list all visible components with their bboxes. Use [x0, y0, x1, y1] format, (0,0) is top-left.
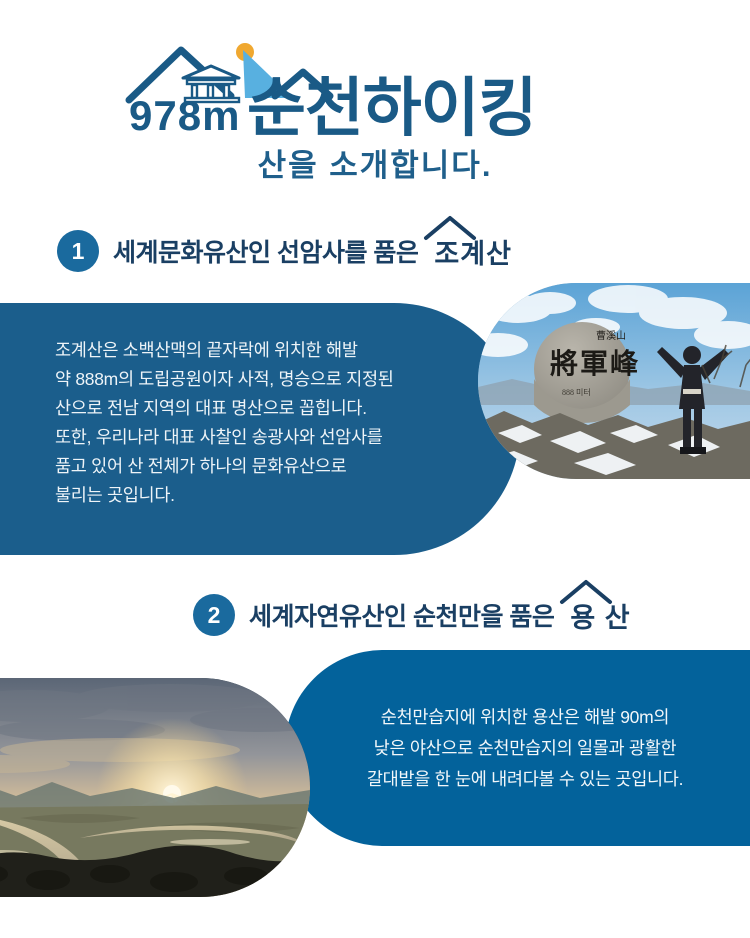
body-line: 조계산은 소백산맥의 끝자락에 위치한 해발	[55, 336, 455, 365]
jogyesan-summit-photo: 曹溪山 將軍峰 888 미터	[478, 283, 750, 479]
logo-elevation: 978m	[129, 92, 240, 138]
header: 978m 순천하이킹 산을 소개합니다.	[0, 0, 750, 205]
section-1-body: 조계산은 소백산맥의 끝자락에 위치한 해발 약 888m의 도립공원이자 사적…	[55, 336, 455, 510]
section-2-mountain-name-wrap: 용 산	[570, 596, 630, 635]
logo-artwork: 978m 순천하이킹	[125, 38, 625, 138]
section-1-photo: 曹溪山 將軍峰 888 미터	[478, 283, 750, 479]
mountain-peak-mark-icon	[560, 579, 612, 603]
section-2-photo	[0, 678, 310, 897]
body-line: 산으로 전남 지역의 대표 명산으로 꼽힙니다.	[55, 394, 455, 423]
summit-marker-stone: 曹溪山 將軍峰 888 미터	[534, 322, 640, 423]
body-line: 또한, 우리나라 대표 사찰인 송광사와 선암사를	[55, 423, 455, 452]
body-line: 낮은 야산으로 순천만습지의 일몰과 광활한	[320, 733, 730, 764]
body-line: 순천만습지에 위치한 용산은 해발 90m의	[320, 702, 730, 733]
body-line: 약 888m의 도립공원이자 사적, 명승으로 지정된	[55, 365, 455, 394]
section-1-heading-text: 세계문화유산인 선암사를 품은	[113, 233, 418, 269]
section-1-mountain-name-wrap: 조계산	[434, 232, 512, 271]
section-1-mountain-name: 조계산	[434, 239, 512, 269]
section-2-badge: 2	[193, 594, 235, 636]
section-2-body: 순천만습지에 위치한 용산은 해발 90m의 낮은 야산으로 순천만습지의 일몰…	[320, 702, 730, 795]
body-line: 품고 있어 산 전체가 하나의 문화유산으로	[55, 452, 455, 481]
logo-wordmark: 순천하이킹	[247, 72, 536, 138]
marker-text-top: 曹溪山	[596, 329, 626, 342]
section-1-badge: 1	[57, 230, 99, 272]
marker-text-main: 將軍峰	[550, 348, 640, 380]
brand-logo: 978m 순천하이킹	[125, 38, 625, 138]
section-2-heading-text: 세계자연유산인 순천만을 품은	[249, 597, 554, 633]
infographic-page: 978m 순천하이킹 산을 소개합니다. 1 세계문화유산인 선암사를 품은 조…	[0, 0, 750, 938]
marker-text-sub: 888 미터	[562, 388, 591, 397]
mountain-peak-mark-icon	[424, 215, 476, 239]
brand-subtitle: 산을 소개합니다.	[0, 140, 750, 185]
section-2-heading: 2 세계자연유산인 순천만을 품은 용 산	[193, 592, 631, 638]
body-line: 불리는 곳입니다.	[55, 481, 455, 510]
section-2-mountain-name: 용 산	[570, 603, 630, 633]
suncheonman-sunset-photo	[0, 678, 310, 897]
body-line: 갈대밭을 한 눈에 내려다볼 수 있는 곳입니다.	[320, 764, 730, 795]
section-1-heading: 1 세계문화유산인 선암사를 품은 조계산	[57, 228, 512, 274]
